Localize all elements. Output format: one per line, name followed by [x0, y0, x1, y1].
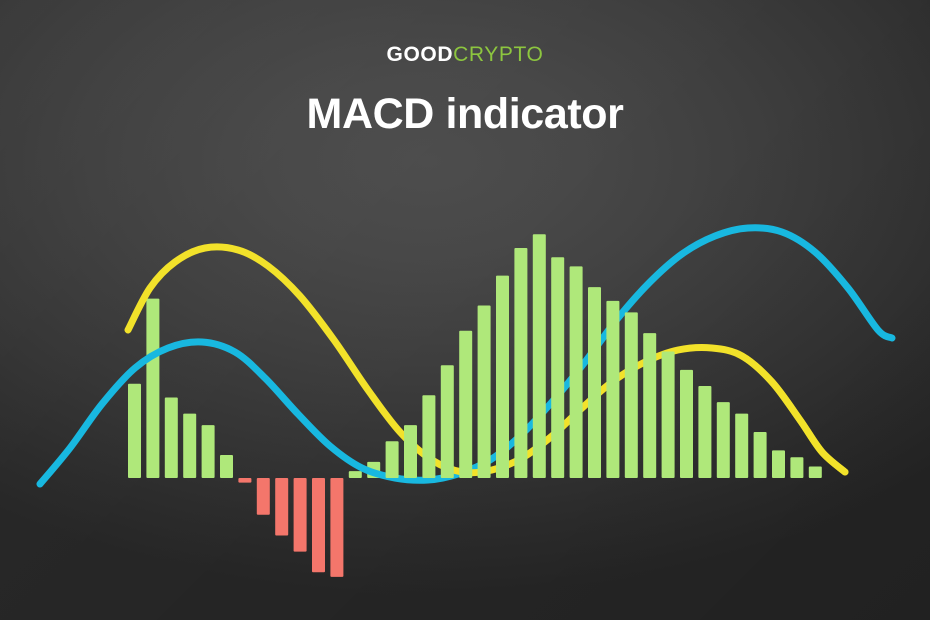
- macd-chart: [0, 0, 930, 620]
- histogram-bar: [478, 306, 491, 479]
- histogram-bar: [533, 234, 546, 478]
- histogram-bar: [220, 455, 233, 478]
- macd-indicator-infographic: GOODCRYPTO MACD indicator: [0, 0, 930, 620]
- histogram-bar: [735, 414, 748, 478]
- histogram-bar: [606, 301, 619, 478]
- histogram-bar: [202, 425, 215, 478]
- histogram-bar: [257, 478, 270, 515]
- histogram-bar: [386, 441, 399, 478]
- histogram-bar: [146, 299, 159, 478]
- histogram-bar: [238, 478, 251, 483]
- histogram-bars-behind-lines: [128, 299, 380, 577]
- histogram-bar: [772, 450, 785, 478]
- histogram-bar: [570, 266, 583, 478]
- histogram-bar: [294, 478, 307, 552]
- histogram-bar: [459, 331, 472, 478]
- histogram-bar: [588, 287, 601, 478]
- histogram-bar: [330, 478, 343, 577]
- histogram-bar: [643, 333, 656, 478]
- histogram-bar: [680, 370, 693, 478]
- histogram-bar: [625, 312, 638, 478]
- histogram-bar: [809, 467, 822, 479]
- histogram-bar: [165, 398, 178, 479]
- histogram-bar: [349, 471, 362, 478]
- histogram-bar: [717, 402, 730, 478]
- histogram-bar: [312, 478, 325, 572]
- histogram-bars-front-of-lines: [386, 234, 822, 478]
- histogram-bar: [128, 384, 141, 478]
- histogram-bar: [275, 478, 288, 536]
- histogram-bar: [754, 432, 767, 478]
- histogram-bar: [404, 425, 417, 478]
- histogram-bar: [662, 352, 675, 479]
- histogram-bar: [441, 365, 454, 478]
- histogram-bar: [422, 395, 435, 478]
- histogram-bar: [551, 257, 564, 478]
- macd-chart-svg: [0, 0, 930, 620]
- histogram-bar: [698, 386, 711, 478]
- histogram-bar: [496, 276, 509, 478]
- histogram-bar: [790, 457, 803, 478]
- histogram-bar: [514, 248, 527, 478]
- histogram-bar: [183, 414, 196, 478]
